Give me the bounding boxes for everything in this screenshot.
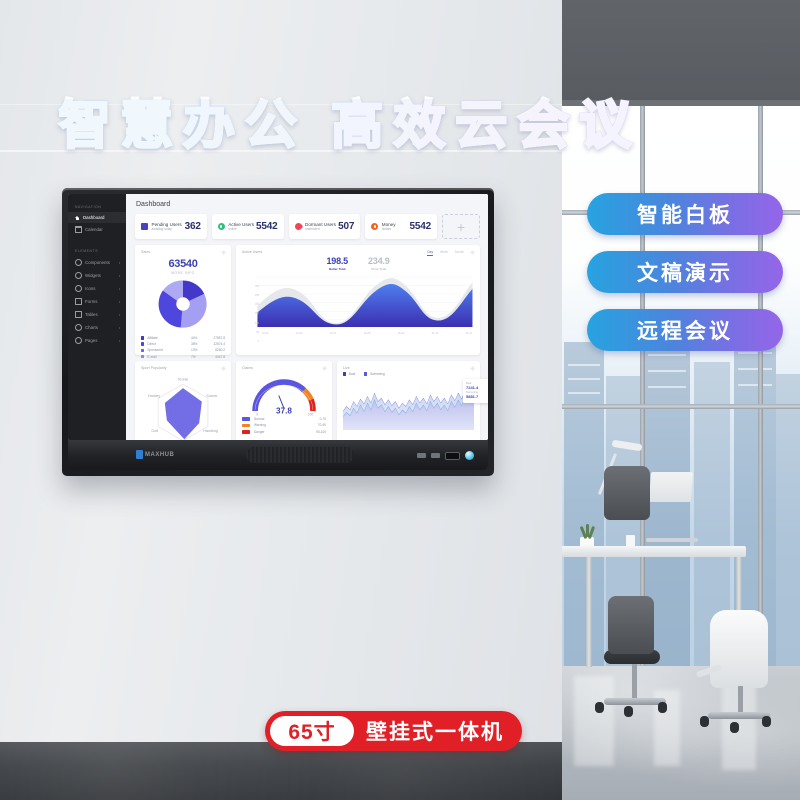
- stat-card-value: 5542: [410, 221, 431, 232]
- brand-logo: MAXHUB: [136, 450, 174, 459]
- legend-swatch: [141, 355, 144, 358]
- stat-card-subtitle: undecided: [305, 227, 336, 231]
- gauge-value: 37.8: [276, 406, 292, 415]
- device-bottom-bezel: MAXHUB: [68, 440, 488, 470]
- legend-item-swimming: Swimming: [364, 372, 384, 376]
- legend-value: 22874.4: [205, 342, 225, 346]
- legend-swatch: [141, 336, 144, 339]
- sidebar-item-label: Tables: [85, 312, 98, 317]
- y-tick: 300: [243, 285, 259, 288]
- form-icon: [75, 298, 82, 305]
- feature-pill-smart-whiteboard[interactable]: 智能白板: [587, 193, 783, 235]
- kpi-label: Butler Total: [326, 267, 348, 271]
- legend-label: E-mail: [147, 355, 191, 359]
- sidebar-item-label: Dashboard: [83, 215, 104, 220]
- gear-icon[interactable]: [470, 366, 475, 371]
- sidebar-item-calendar[interactable]: Calendar: [68, 223, 126, 236]
- usb-port-icon: [431, 453, 440, 458]
- active-users-area-chart: [242, 273, 474, 331]
- sales-legend: Affiliate 44% 27857.8 Direct 38% 22874.4: [141, 336, 225, 359]
- page-icon: [75, 337, 82, 344]
- port-cluster: [417, 451, 474, 460]
- feature-pill-presentation[interactable]: 文稿演示: [587, 251, 783, 293]
- sidebar-item-label: Icons: [85, 286, 96, 291]
- x-tick: 01-09: [398, 332, 404, 335]
- feature-pill-label: 智能白板: [637, 199, 733, 229]
- active-users-tabs: Day Week Month: [427, 250, 464, 256]
- gear-icon[interactable]: [322, 366, 327, 371]
- table-icon: [75, 311, 82, 318]
- live-area-chart: [343, 378, 474, 430]
- legend-percent: 38%: [191, 342, 205, 346]
- stat-card-pending-users[interactable]: Pending Users awaiting today 362: [135, 214, 207, 239]
- sidebar-item-widgets[interactable]: Widgets: [68, 269, 126, 282]
- poster: 智慧办公 高效云会议 智能白板 文稿演示 远程会议 NAVIGATION Das…: [0, 0, 800, 800]
- live-panel: Live Boat: [337, 361, 480, 440]
- y-tick: 50: [243, 331, 259, 334]
- sidebar-item-label: Forms: [85, 299, 97, 304]
- chevron-right-icon: [119, 301, 120, 303]
- product-size-badge: 65寸 壁挂式一体机: [265, 711, 522, 751]
- calendar-icon: [75, 226, 82, 233]
- kpi-value: 234.9: [368, 256, 390, 266]
- legend-swatch: [141, 349, 144, 352]
- sidebar-item-label: Charts: [85, 325, 98, 330]
- legend-swatch: [141, 342, 144, 345]
- x-tick: 01-10: [432, 332, 438, 335]
- stat-card-value: 507: [338, 221, 354, 232]
- chevron-right-icon: [119, 288, 120, 290]
- radar-axis-soccer: Soccer: [206, 394, 218, 398]
- legend-item: Affiliate 44% 27857.8: [141, 336, 225, 340]
- claims-gauge-panel: Claims 37.8: [236, 361, 332, 440]
- chevron-right-icon: [119, 262, 120, 264]
- radar-axis-tennis: Tennis: [178, 378, 189, 382]
- display-screen: NAVIGATION Dashboard Calendar ELEMENTS C…: [68, 194, 488, 440]
- sidebar-item-label: Components: [85, 260, 110, 265]
- logo-mark-icon: [136, 450, 143, 459]
- legend-swatch: [242, 424, 250, 428]
- chart-row-upper: Sales 63540 MORE INFO: [135, 245, 480, 355]
- gauge-legend: Normal 0-70 Warning 70-90: [242, 417, 326, 434]
- sidebar-item-pages[interactable]: Pages: [68, 334, 126, 347]
- sidebar-item-components[interactable]: Components: [68, 256, 126, 269]
- legend-value: 8260.2: [205, 348, 225, 352]
- y-tick: 150: [243, 312, 259, 315]
- chevron-right-icon: [119, 327, 120, 329]
- stat-card-subtitle: online: [228, 227, 254, 231]
- x-tick: 01-08: [364, 332, 370, 335]
- kpi-pixie-total: 234.9 Pixie Total: [368, 256, 390, 271]
- cloud-icon: [218, 223, 225, 230]
- legend-label: Boat: [349, 372, 356, 376]
- grid-icon: [75, 259, 82, 266]
- y-tick: 200: [243, 303, 259, 306]
- x-axis-tick-labels: 01-05 01-06 01-07 01-08 01-09 01-10 01-1…: [242, 331, 474, 335]
- legend-range: 70-90: [318, 423, 326, 427]
- sidebar-item-charts[interactable]: Charts: [68, 321, 126, 334]
- sidebar-caption-elements: ELEMENTS: [68, 245, 126, 256]
- feature-pill-remote-meeting[interactable]: 远程会议: [587, 309, 783, 351]
- legend-label: Danger: [254, 430, 316, 434]
- radar-axis-golf: Golf: [151, 429, 159, 433]
- gauge-chart: 37.8 0 100: [242, 372, 326, 416]
- legend-label: Swimming: [370, 372, 385, 376]
- x-tick: 01-11: [466, 332, 472, 335]
- y-tick: 0: [243, 340, 259, 343]
- legend-label: Normal: [254, 417, 320, 421]
- legend-swatch: [343, 372, 346, 375]
- legend-label: Sponsored: [147, 348, 191, 352]
- legend-percent: 44%: [191, 336, 205, 340]
- kpi-label: Pixie Total: [368, 267, 390, 271]
- speaker-grille: [246, 447, 354, 463]
- stat-card-dormant-users[interactable]: Dormant Users undecided 507: [289, 214, 361, 239]
- radar-axis-handling: Handling: [203, 429, 217, 433]
- y-tick: 100: [243, 322, 259, 325]
- panel-title: Sport Popularity: [141, 366, 225, 370]
- stat-card-row: Pending Users awaiting today 362 Active …: [135, 214, 480, 239]
- feature-pill-label: 远程会议: [637, 315, 733, 345]
- tab-day[interactable]: Day: [427, 250, 433, 256]
- active-users-kpis: 198.5 Butler Total 234.9 Pixie Total: [242, 256, 474, 271]
- sales-more-info-label: MORE INFO: [141, 271, 225, 275]
- chart-icon: [75, 324, 82, 331]
- gauge-max-label: 100: [308, 412, 313, 416]
- kpi-value: 198.5: [326, 256, 348, 266]
- x-tick: 01-06: [296, 332, 302, 335]
- tab-month[interactable]: Month: [455, 250, 464, 256]
- chart-row-lower: Sport Popularity Tennis Soccer: [135, 361, 480, 440]
- donut-chart: [155, 276, 211, 332]
- legend-item: Direct 38% 22874.4: [141, 342, 225, 346]
- legend-percent: 7%: [191, 355, 205, 359]
- heart-icon: [293, 222, 303, 232]
- panel-title: Live: [343, 366, 474, 370]
- sidebar-item-dashboard[interactable]: Dashboard: [68, 212, 126, 223]
- dashboard-app: NAVIGATION Dashboard Calendar ELEMENTS C…: [68, 194, 488, 440]
- panel-title: Claims: [242, 366, 326, 370]
- dashboard-page-title: Dashboard: [136, 201, 480, 208]
- legend-item: Warning 70-90: [242, 423, 326, 427]
- legend-value: 4447.8: [205, 355, 225, 359]
- sidebar-item-icons[interactable]: Icons: [68, 282, 126, 295]
- y-tick: 250: [243, 294, 259, 297]
- legend-item: Sponsored 13% 8260.2: [141, 348, 225, 352]
- hdmi-port-icon: [445, 452, 460, 460]
- legend-swatch: [242, 430, 250, 434]
- stat-card-value: 362: [185, 221, 201, 232]
- tab-week[interactable]: Week: [440, 250, 448, 256]
- legend-swatch: [364, 372, 367, 375]
- chevron-right-icon: [119, 314, 120, 316]
- legend-item: Normal 0-70: [242, 417, 326, 421]
- add-card-button[interactable]: +: [442, 214, 480, 239]
- logo-text: MAXHUB: [145, 452, 174, 458]
- feature-pill-label: 文稿演示: [637, 257, 733, 287]
- legend-range: 0-70: [320, 417, 326, 421]
- badge-type-label: 壁挂式一体机: [366, 716, 504, 746]
- chevron-right-icon: [119, 340, 120, 342]
- live-tooltip: Boat 7241.4 Swimming 5881.7: [463, 379, 488, 403]
- gear-icon[interactable]: [470, 250, 475, 255]
- sidebar-item-forms[interactable]: Forms: [68, 295, 126, 308]
- home-icon: [75, 215, 80, 220]
- stat-card-subtitle: awaiting today: [152, 227, 182, 231]
- legend-range: 90-100: [316, 430, 326, 434]
- sidebar: NAVIGATION Dashboard Calendar ELEMENTS C…: [68, 194, 126, 440]
- tooltip-value: 7241.4: [466, 385, 488, 390]
- usb-port-icon: [417, 453, 426, 458]
- radar-chart: Tennis Soccer Handling Basketball Golf H…: [141, 372, 225, 440]
- stat-card-value: 5542: [256, 221, 277, 232]
- legend-item-boat: Boat: [343, 372, 355, 376]
- sidebar-item-tables[interactable]: Tables: [68, 308, 126, 321]
- star-icon: [75, 285, 82, 292]
- sidebar-item-label: Pages: [85, 338, 97, 343]
- power-led-icon[interactable]: [465, 451, 474, 460]
- sport-popularity-panel: Sport Popularity Tennis Soccer: [135, 361, 231, 440]
- gauge-min-label: 0: [256, 412, 258, 416]
- radar-axis-hockey: Hockey: [148, 394, 160, 398]
- active-users-panel: Active Users Day Week Month: [236, 245, 480, 355]
- live-legend: Boat Swimming: [343, 372, 474, 376]
- dashboard-main: Dashboard Pending Users awaiting today: [126, 194, 488, 440]
- gear-icon[interactable]: [221, 366, 226, 371]
- panel-title: Sales: [141, 250, 225, 254]
- stat-card-active-users[interactable]: Active Users online 5542: [212, 214, 284, 239]
- chevron-right-icon: [119, 275, 120, 277]
- legend-label: Warning: [254, 423, 318, 427]
- stat-card-subtitle: dollars: [382, 227, 396, 231]
- legend-item: Danger 90-100: [242, 430, 326, 434]
- legend-percent: 13%: [191, 348, 205, 352]
- x-tick: 01-07: [330, 332, 336, 335]
- legend-label: Affiliate: [147, 336, 191, 340]
- x-tick: 01-05: [262, 332, 268, 335]
- sales-total-value: 63540: [141, 258, 225, 270]
- stat-card-money[interactable]: Money dollars 5542: [365, 214, 437, 239]
- legend-swatch: [242, 417, 250, 421]
- badge-size-label: 65寸: [270, 716, 354, 746]
- widget-icon: [75, 272, 82, 279]
- kpi-butler-total: 198.5 Butler Total: [326, 256, 348, 271]
- legend-label: Direct: [147, 342, 191, 346]
- tooltip-value: 5881.7: [466, 394, 488, 399]
- sales-donut-panel: Sales 63540 MORE INFO: [135, 245, 231, 355]
- legend-item: E-mail 7% 4447.8: [141, 355, 225, 359]
- page-title: 智慧办公 高效云会议: [0, 99, 700, 154]
- sidebar-item-label: Widgets: [85, 273, 101, 278]
- gear-icon[interactable]: [221, 250, 226, 255]
- feature-pill-list: 智能白板 文稿演示 远程会议: [587, 193, 783, 367]
- sidebar-caption-navigation: NAVIGATION: [68, 201, 126, 212]
- y-axis-tick-labels: 300 250 200 150 100 50 0: [243, 285, 259, 343]
- coin-icon: [371, 223, 378, 230]
- square-icon: [141, 223, 148, 230]
- sidebar-item-label: Calendar: [85, 227, 103, 232]
- legend-value: 27857.8: [205, 336, 225, 340]
- interactive-display-device: NAVIGATION Dashboard Calendar ELEMENTS C…: [62, 188, 494, 476]
